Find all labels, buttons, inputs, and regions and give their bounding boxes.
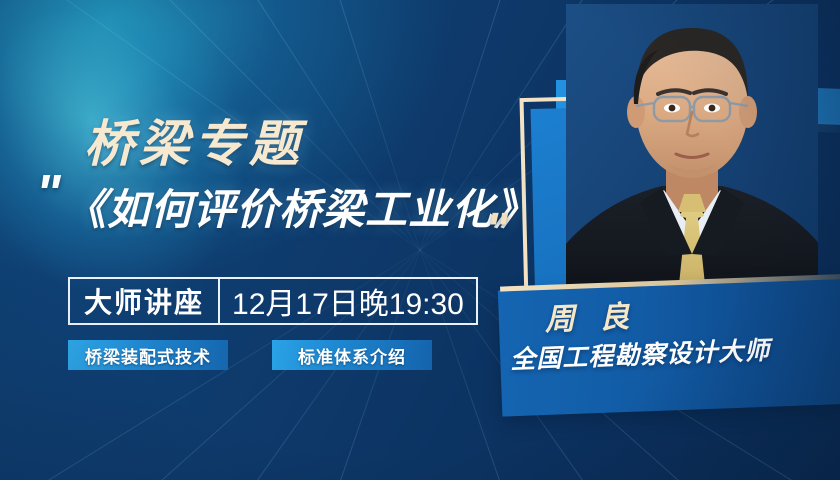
quote-close-mark: " [486,206,506,252]
page-title: 桥梁专题 [84,104,304,176]
page-subtitle: 《如何评价桥梁工业化》 [64,176,537,237]
lecture-info-bar: 大师讲座 12月17日晚19:30 [68,277,478,325]
lecture-datetime: 12月17日晚19:30 [220,279,476,323]
topic-tag[interactable]: 标准体系介绍 [272,340,432,370]
quote-open-mark: " [36,168,59,220]
speaker-nameplate-content: 周 良 全国工程勘察设计大师 [498,277,840,416]
topic-tag[interactable]: 桥梁装配式技术 [68,340,228,370]
lecture-label: 大师讲座 [70,279,218,323]
promo-banner: 周 良 全国工程勘察设计大师 桥梁专题 " 《如何评价桥梁工业化》 " 大师讲座… [0,0,840,480]
